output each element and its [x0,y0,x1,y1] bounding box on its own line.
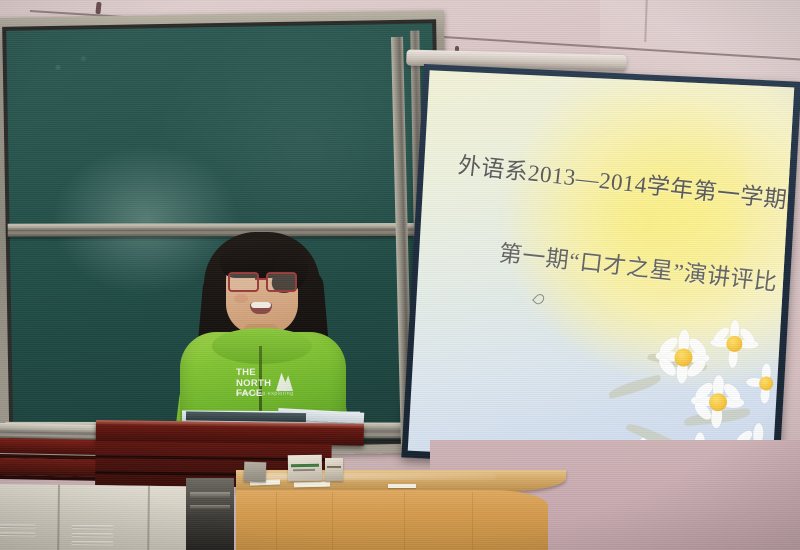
projection-screen: 外语系2013—2014学年第一学期 第一期“口才之星”演讲评比 [401,64,800,475]
equipment-slot [190,492,230,499]
equipment-slot [190,505,230,510]
desk-box [325,458,343,481]
daisy-flower [711,321,757,367]
daisy-flower [692,376,745,428]
desk-paper [388,484,416,488]
desk-wood-grain [404,492,405,550]
cabinet-vent [71,533,113,537]
mouth [250,302,272,314]
desk-front-panel [236,490,548,550]
slide-title-line-2: 第一期“口才之星”演讲评比 [497,234,768,296]
box-label-text [293,469,315,471]
desk-top-surface [236,470,566,492]
desk-reflection [246,473,496,480]
ledge-top-board [0,436,108,455]
slide-title-line-1: 外语系2013—2014学年第一学期 [456,146,773,213]
mountain-icon [276,371,293,391]
metal-cabinet[interactable] [0,484,208,550]
equipment-bay [186,478,234,550]
desk-paper [294,482,330,488]
glasses-bridge [255,278,267,280]
desk-object [244,462,267,483]
cabinet-vent [71,525,113,529]
teeth [251,302,271,308]
cheek-shading [234,294,248,303]
glasses-icon [228,272,296,288]
ledge-lower-board [0,456,108,477]
box-label-band [291,464,319,467]
desk-wood-grain [276,492,277,550]
cabinet-door-seam [57,485,60,550]
brand-line-1: THE [236,368,274,379]
wooden-desk [236,470,566,550]
glasses-left-lens [228,272,259,292]
box-label-band [327,466,341,468]
north-face-logo: THE NORTH FACE never stop exploring [236,368,294,400]
screen-surface: 外语系2013—2014学年第一学期 第一期“口才之星”演讲评比 [408,70,795,468]
desk-wood-grain [472,492,473,550]
desk-wood-grain [332,492,333,550]
cabinet-vent [71,541,113,545]
cabinet-door-seam [147,486,150,550]
glasses-right-lens [266,272,297,292]
desk-box [288,455,322,482]
brand-tagline: never stop exploring [236,391,294,397]
hood-collar [212,328,312,364]
classroom-photo: 外语系2013—2014学年第一学期 第一期“口才之星”演讲评比 [0,0,800,550]
cabinet-vent [0,524,36,527]
cabinet-vent [0,532,35,535]
presenter: THE NORTH FACE never stop exploring [178,228,346,428]
dark-folder [186,411,306,422]
